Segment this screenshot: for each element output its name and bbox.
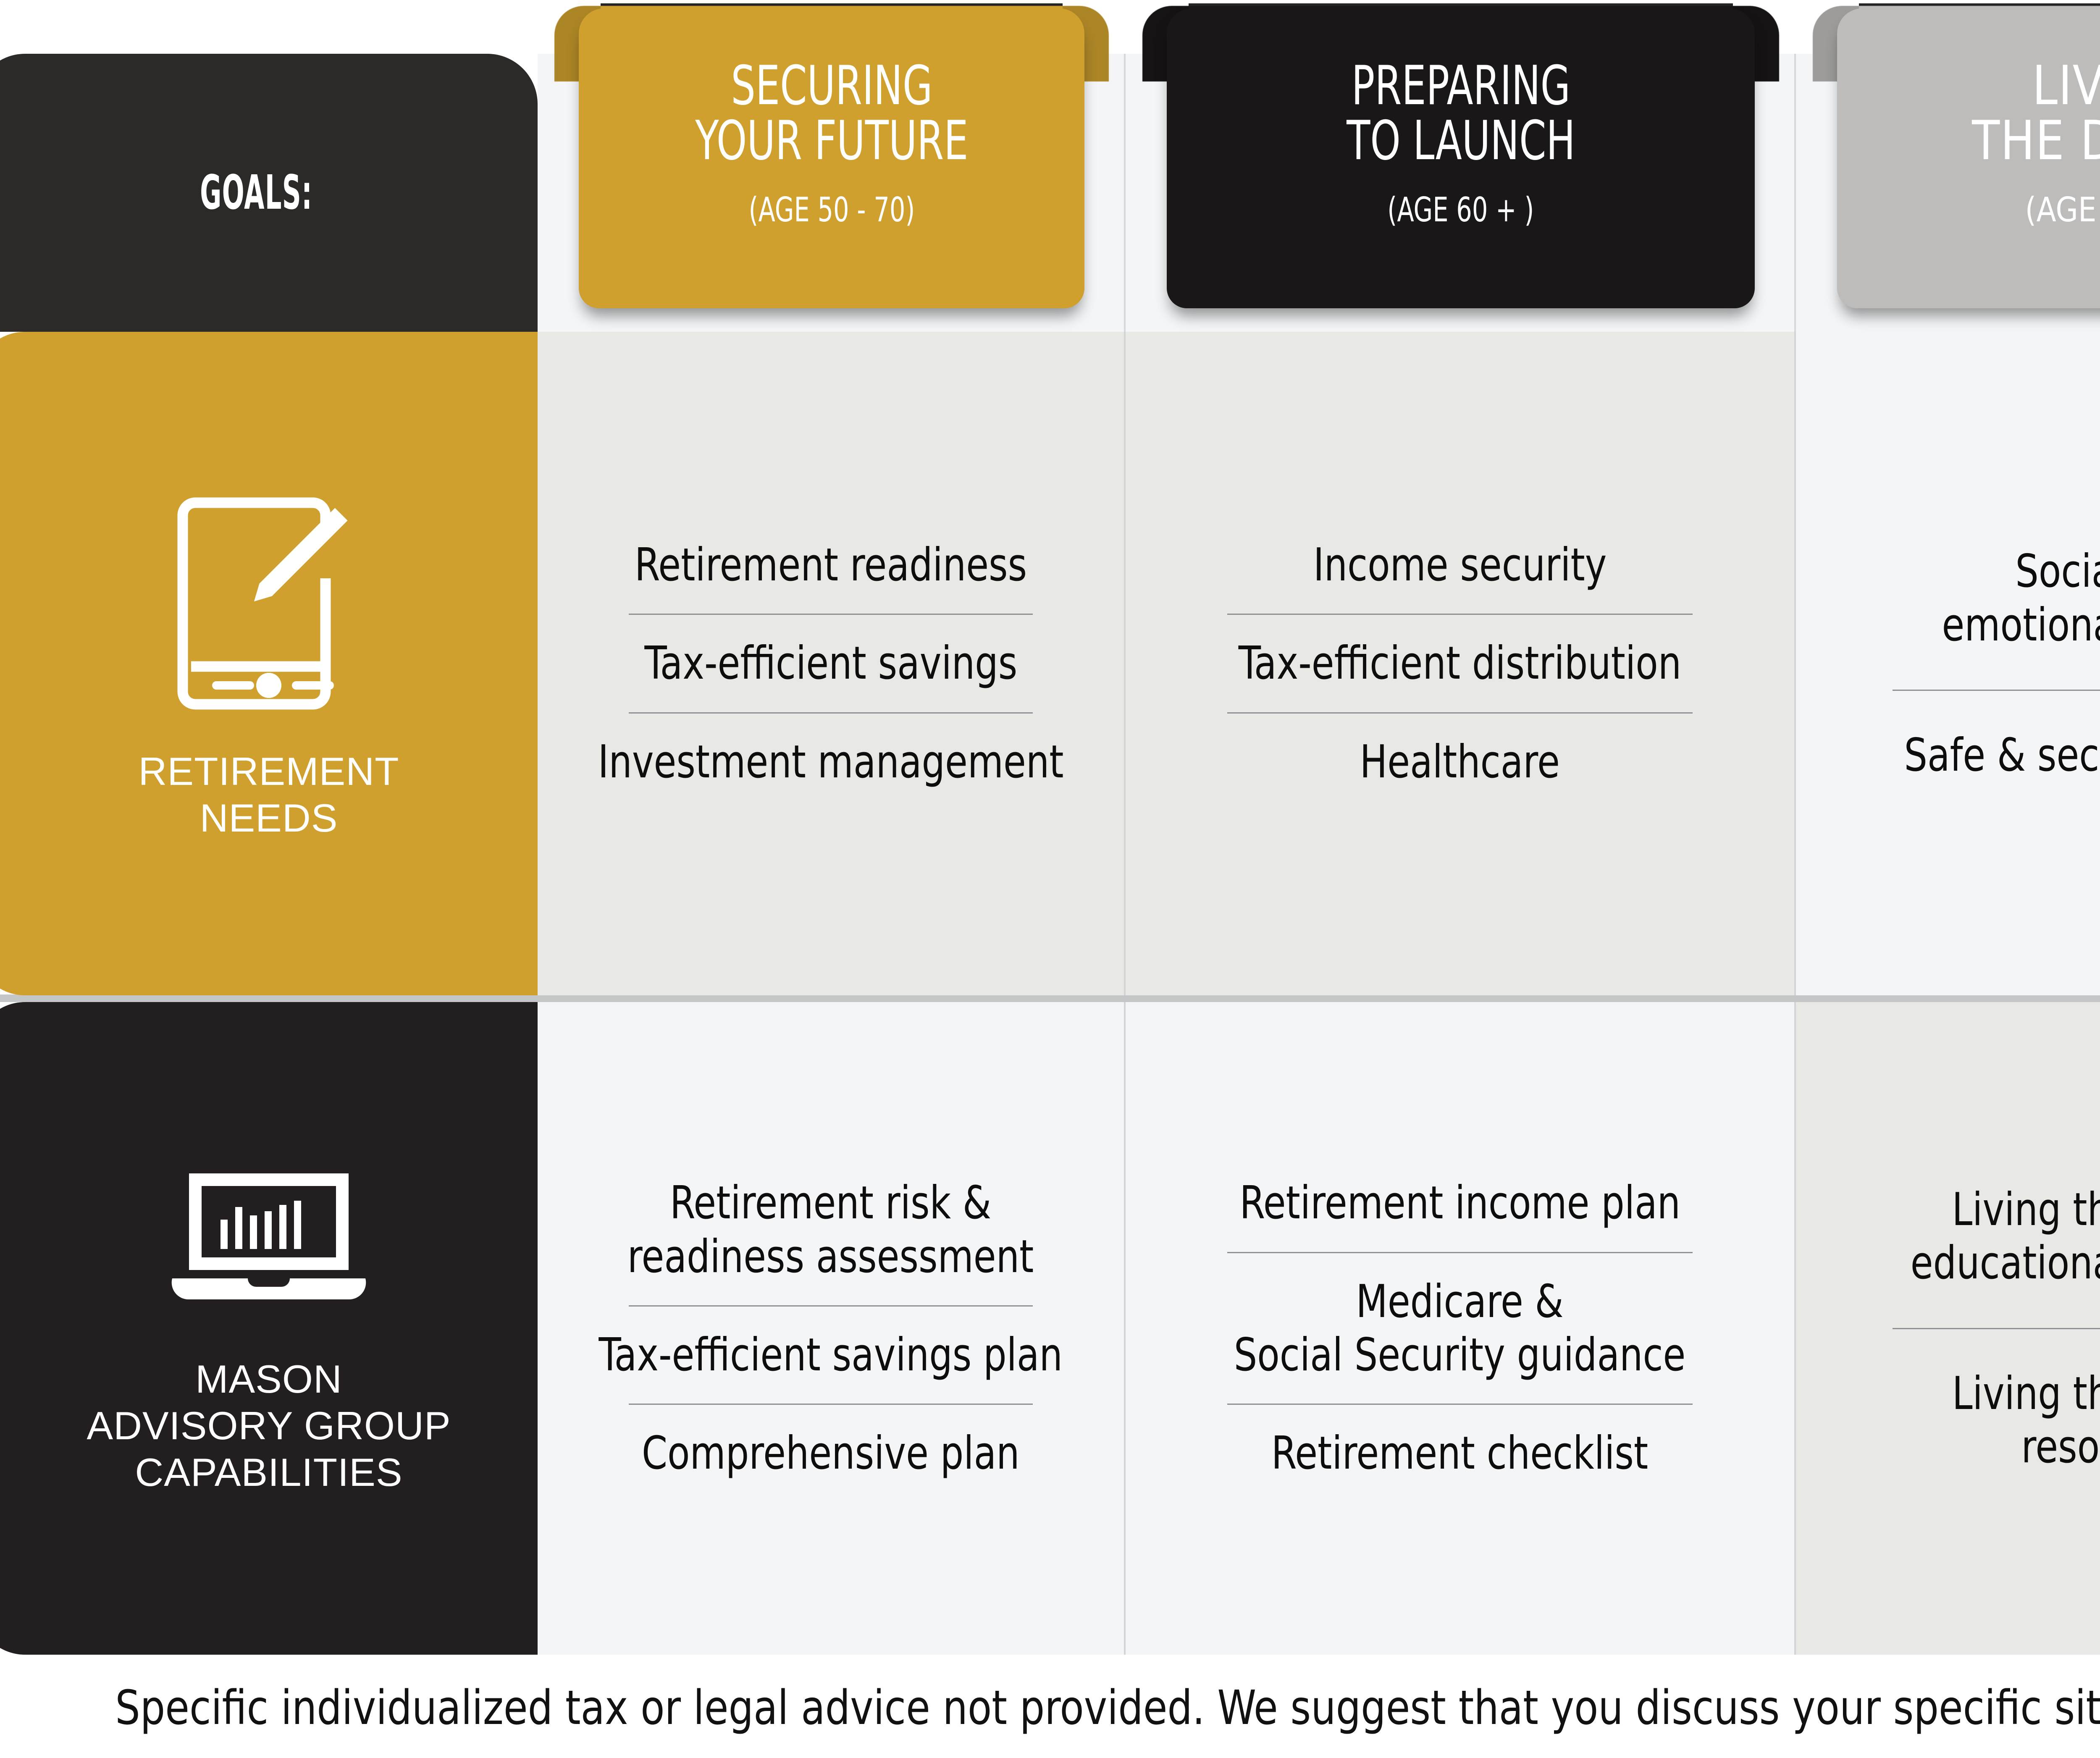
tab-body[interactable]: SECURING YOUR FUTURE(AGE 50 - 70) (579, 8, 1084, 308)
tab-3[interactable]: LIVING THE DREAM(AGE 65 + ) (1813, 0, 2100, 332)
item-separator (1227, 1252, 1692, 1253)
tab-title: LIVING THE DREAM (1972, 59, 2100, 168)
cell-item-list: Retirement risk & readiness assessmentTa… (558, 1176, 1104, 1480)
cell-item: Retirement checklist (1271, 1427, 1648, 1480)
matrix-cell-r2c3: Living the Dream educational materialsLi… (1796, 1002, 2100, 1655)
cell-item: Medicare & Social Security guidance (1234, 1275, 1686, 1382)
cell-item: Tax-efficient distribution (1239, 637, 1682, 690)
cell-item-list: Retirement income planMedicare & Social … (1146, 1176, 1774, 1480)
row-header-cell-1: RETIREMENT NEEDS (0, 332, 538, 995)
matrix-cell-r1c1: Retirement readinessTax-efficient saving… (538, 332, 1126, 995)
item-separator (629, 712, 1033, 714)
row-header-cell-2: MASON ADVISORY GROUP CAPABILITIES (0, 1002, 538, 1655)
matrix-cell-r2c2: Retirement income planMedicare & Social … (1126, 1002, 1796, 1655)
cell-item: Investment management (598, 735, 1064, 789)
item-separator (1227, 712, 1692, 714)
cell-item: Income security (1313, 538, 1607, 592)
retirement-planning-matrix: GOALS: SECURING YOUR FUTURE(AGE 50 - 70)… (0, 0, 2100, 1758)
tab-age-range: (AGE 65 + ) (2025, 190, 2100, 229)
cell-item: Healthcare (1360, 735, 1560, 789)
goals-header-cell: GOALS: (0, 54, 538, 332)
footer-disclaimer: Specific individualized tax or legal adv… (0, 1658, 2100, 1758)
cell-item: Tax-efficient savings (644, 637, 1017, 690)
item-separator (1227, 614, 1692, 615)
cell-item-list: Retirement readinessTax-efficient saving… (558, 538, 1104, 789)
table-row: RETIREMENT NEEDSRetirement readinessTax-… (0, 332, 2100, 995)
tab-1[interactable]: SECURING YOUR FUTURE(AGE 50 - 70) (554, 0, 1109, 332)
table-row: MASON ADVISORY GROUP CAPABILITIESRetirem… (0, 1002, 2100, 1655)
tab-age-range: (AGE 50 - 70) (748, 190, 915, 229)
goals-label: GOALS: (200, 165, 312, 220)
cell-item: Living the Dream educational materials (1911, 1183, 2100, 1290)
row-divider (0, 994, 2100, 1002)
laptop-chart-icon (151, 1161, 386, 1331)
item-separator (1893, 1328, 2100, 1329)
header-row: GOALS: SECURING YOUR FUTURE(AGE 50 - 70)… (0, 0, 2100, 332)
matrix-cell-r1c2: Income securityTax-efficient distributio… (1126, 332, 1796, 995)
row-header-label: MASON ADVISORY GROUP CAPABILITIES (87, 1356, 451, 1496)
cell-item-list: Income securityTax-efficient distributio… (1146, 538, 1774, 789)
cell-item: Retirement income plan (1239, 1176, 1680, 1230)
tablet-pencil-icon (170, 486, 367, 721)
tab-age-range: (AGE 60 + ) (1387, 190, 1534, 229)
body-rows: RETIREMENT NEEDSRetirement readinessTax-… (0, 332, 2100, 1655)
tab-body[interactable]: LIVING THE DREAM(AGE 65 + ) (1837, 8, 2100, 308)
disclaimer-text: Specific individualized tax or legal adv… (115, 1681, 2100, 1735)
matrix-cell-r1c3: Social and emotional supportSafe & secur… (1796, 332, 2100, 995)
laptop-chart-icon (151, 1161, 386, 1329)
cell-item: Tax-efficient savings plan (599, 1328, 1063, 1382)
cell-item: Comprehensive plan (642, 1427, 1020, 1480)
tablet-pencil-icon (170, 486, 367, 723)
cell-item-list: Living the Dream educational materialsLi… (1816, 1183, 2100, 1474)
item-separator (629, 614, 1033, 615)
item-separator (629, 1404, 1033, 1405)
cell-item: Social and emotional support (1942, 545, 2100, 652)
matrix-cell-r2c1: Retirement risk & readiness assessmentTa… (538, 1002, 1126, 1655)
row-header-label: RETIREMENT NEEDS (139, 748, 399, 842)
item-separator (629, 1305, 1033, 1307)
cell-item: Safe & secure housing (1904, 729, 2100, 782)
tab-body[interactable]: PREPARING TO LAUNCH(AGE 60 + ) (1167, 8, 1755, 308)
tab-2[interactable]: PREPARING TO LAUNCH(AGE 60 + ) (1142, 0, 1779, 332)
cell-item: Living the Dream resources (1952, 1367, 2100, 1474)
cell-item-list: Social and emotional supportSafe & secur… (1816, 545, 2100, 782)
item-separator (1227, 1404, 1692, 1405)
tab-title: SECURING YOUR FUTURE (695, 59, 968, 168)
matrix-grid: GOALS: SECURING YOUR FUTURE(AGE 50 - 70)… (0, 0, 2100, 1655)
tab-title: PREPARING TO LAUNCH (1347, 59, 1575, 168)
item-separator (1893, 690, 2100, 691)
cell-item: Retirement risk & readiness assessment (627, 1176, 1034, 1283)
cell-item: Retirement readiness (635, 538, 1027, 592)
